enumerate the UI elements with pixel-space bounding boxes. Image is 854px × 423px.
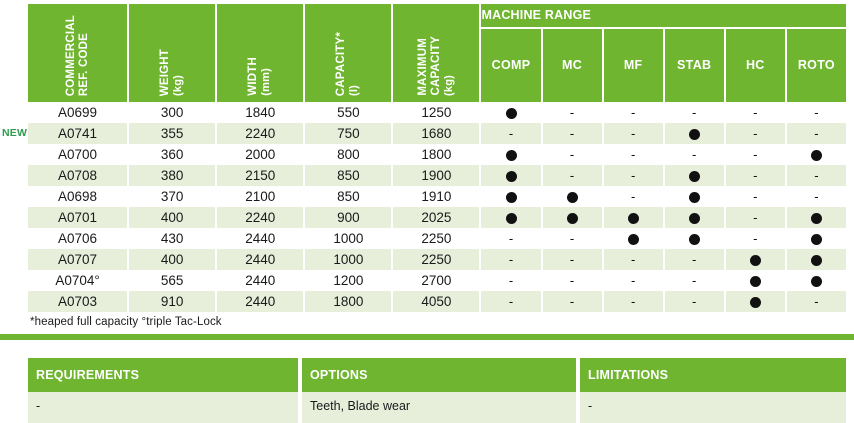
cell-weight: 355 xyxy=(128,123,216,144)
filled-dot-icon xyxy=(506,213,517,224)
cell-capacity: 800 xyxy=(304,144,392,165)
cell-weight: 910 xyxy=(128,291,216,312)
cell-width: 2440 xyxy=(216,249,304,270)
info-value-limitations: - xyxy=(578,392,846,423)
col-header-width-label: WIDTH xyxy=(247,57,260,96)
cell-machine-hc: - xyxy=(725,186,786,207)
info-col-header-options: OPTIONS xyxy=(300,358,578,392)
cell-commercial-ref-code: A0708 xyxy=(28,165,128,186)
cell-machine-comp: - xyxy=(480,270,541,291)
filled-dot-icon xyxy=(811,255,822,266)
cell-machine-mc: - xyxy=(542,291,603,312)
cell-maximum-capacity: 1900 xyxy=(392,165,480,186)
cell-weight: 300 xyxy=(128,102,216,123)
cell-machine-roto xyxy=(786,207,846,228)
cell-weight: 400 xyxy=(128,207,216,228)
vertical-label-wrap: WEIGHT (kg) xyxy=(129,4,215,96)
col-header-maxcap-unit: (kg) xyxy=(443,75,456,96)
filled-dot-icon xyxy=(506,192,517,203)
filled-dot-icon xyxy=(567,192,578,203)
info-value-options: Teeth, Blade wear xyxy=(300,392,578,423)
filled-dot-icon xyxy=(567,213,578,224)
filled-dot-icon xyxy=(750,276,761,287)
col-header-code-line2: REF. CODE xyxy=(78,33,91,96)
cell-machine-roto xyxy=(786,228,846,249)
filled-dot-icon xyxy=(811,150,822,161)
cell-value-code: A0699 xyxy=(58,105,97,120)
info-table-body: - Teeth, Blade wear - xyxy=(28,392,846,423)
cell-weight: 380 xyxy=(128,165,216,186)
cell-machine-mf: - xyxy=(603,102,664,123)
cell-maximum-capacity: 1910 xyxy=(392,186,480,207)
cell-machine-hc xyxy=(725,291,786,312)
cell-machine-stab: - xyxy=(664,249,725,270)
info-header-row: REQUIREMENTS OPTIONS LIMITATIONS xyxy=(28,358,846,392)
cell-width: 1840 xyxy=(216,102,304,123)
col-header-code-line1: COMMERCIAL xyxy=(65,15,78,96)
table-row: A070838021508501900---- xyxy=(28,165,846,186)
col-header-weight-unit: (kg) xyxy=(172,75,185,96)
filled-dot-icon xyxy=(628,213,639,224)
table-row: A069930018405501250----- xyxy=(28,102,846,123)
filled-dot-icon xyxy=(689,192,700,203)
cell-value-code: A0703 xyxy=(58,294,97,309)
cell-commercial-ref-code: NEWA0741 xyxy=(28,123,128,144)
dash-marker: - xyxy=(570,148,574,161)
dash-marker: - xyxy=(509,274,513,287)
dash-marker: - xyxy=(814,295,818,308)
cell-value-code: A0708 xyxy=(58,168,97,183)
col-header-mf: MF xyxy=(603,28,664,102)
dash-marker: - xyxy=(753,106,757,119)
dash-marker: - xyxy=(570,169,574,182)
col-header-mc: MC xyxy=(542,28,603,102)
dash-marker: - xyxy=(631,274,635,287)
cell-commercial-ref-code: A0701 xyxy=(28,207,128,228)
cell-maximum-capacity: 4050 xyxy=(392,291,480,312)
cell-maximum-capacity: 1250 xyxy=(392,102,480,123)
col-header-maxcap-line2: CAPACITY xyxy=(430,36,443,96)
dash-marker: - xyxy=(692,148,696,161)
cell-weight: 430 xyxy=(128,228,216,249)
cell-machine-mc: - xyxy=(542,144,603,165)
cell-capacity: 550 xyxy=(304,102,392,123)
dash-marker: - xyxy=(509,232,513,245)
cell-machine-hc: - xyxy=(725,207,786,228)
cell-machine-stab: - xyxy=(664,144,725,165)
cell-machine-comp xyxy=(480,144,541,165)
cell-width: 2240 xyxy=(216,123,304,144)
dash-marker: - xyxy=(570,127,574,140)
cell-capacity: 1200 xyxy=(304,270,392,291)
table-row: A0704°565244012002700---- xyxy=(28,270,846,291)
cell-machine-roto: - xyxy=(786,165,846,186)
cell-width: 2440 xyxy=(216,228,304,249)
cell-commercial-ref-code: A0707 xyxy=(28,249,128,270)
filled-dot-icon xyxy=(689,213,700,224)
vertical-label-wrap: MAXIMUM CAPACITY (kg) xyxy=(393,4,479,96)
cell-maximum-capacity: 2025 xyxy=(392,207,480,228)
col-header-machine-range-group: MACHINE RANGE xyxy=(480,4,846,28)
dash-marker: - xyxy=(692,295,696,308)
cell-machine-mc: - xyxy=(542,102,603,123)
cell-machine-mf: - xyxy=(603,186,664,207)
cell-machine-mf: - xyxy=(603,165,664,186)
cell-machine-stab xyxy=(664,123,725,144)
cell-weight: 370 xyxy=(128,186,216,207)
col-header-width: WIDTH (mm) xyxy=(216,4,304,102)
cell-machine-roto: - xyxy=(786,102,846,123)
cell-commercial-ref-code: A0700 xyxy=(28,144,128,165)
cell-machine-mc: - xyxy=(542,123,603,144)
cell-machine-comp xyxy=(480,186,541,207)
filled-dot-icon xyxy=(689,234,700,245)
dash-marker: - xyxy=(631,190,635,203)
cell-maximum-capacity: 2250 xyxy=(392,249,480,270)
dash-marker: - xyxy=(753,211,757,224)
info-table: REQUIREMENTS OPTIONS LIMITATIONS - Teeth… xyxy=(28,358,846,423)
filled-dot-icon xyxy=(506,108,517,119)
specification-table: COMMERCIAL REF. CODE WEIGHT (kg) WIDTH xyxy=(28,4,846,312)
dash-marker: - xyxy=(753,190,757,203)
cell-width: 2100 xyxy=(216,186,304,207)
filled-dot-icon xyxy=(750,255,761,266)
dash-marker: - xyxy=(570,106,574,119)
section-divider-rule xyxy=(0,334,854,340)
table-row: A070140022409002025- xyxy=(28,207,846,228)
cell-maximum-capacity: 2700 xyxy=(392,270,480,291)
spec-sheet-page: COMMERCIAL REF. CODE WEIGHT (kg) WIDTH xyxy=(0,0,854,423)
filled-dot-icon xyxy=(628,234,639,245)
dash-marker: - xyxy=(753,127,757,140)
cell-machine-mc: - xyxy=(542,165,603,186)
vertical-label-wrap: CAPACITY* (l) xyxy=(305,4,391,96)
cell-commercial-ref-code: A0703 xyxy=(28,291,128,312)
cell-machine-mc xyxy=(542,186,603,207)
dash-marker: - xyxy=(814,106,818,119)
cell-capacity: 900 xyxy=(304,207,392,228)
table-row: A0703910244018004050----- xyxy=(28,291,846,312)
cell-value-code: A0700 xyxy=(58,147,97,162)
cell-machine-comp xyxy=(480,102,541,123)
table-row: A070036020008001800---- xyxy=(28,144,846,165)
dash-marker: - xyxy=(692,106,696,119)
dash-marker: - xyxy=(631,127,635,140)
col-header-capacity-label: CAPACITY* xyxy=(335,32,348,96)
table-row: A069837021008501910--- xyxy=(28,186,846,207)
cell-machine-mf xyxy=(603,228,664,249)
col-header-weight: WEIGHT (kg) xyxy=(128,4,216,102)
cell-width: 2000 xyxy=(216,144,304,165)
cell-machine-roto: - xyxy=(786,291,846,312)
cell-machine-mf: - xyxy=(603,144,664,165)
info-value-row: - Teeth, Blade wear - xyxy=(28,392,846,423)
filled-dot-icon xyxy=(689,129,700,140)
cell-commercial-ref-code: A0699 xyxy=(28,102,128,123)
specification-table-head: COMMERCIAL REF. CODE WEIGHT (kg) WIDTH xyxy=(28,4,846,102)
cell-machine-hc: - xyxy=(725,144,786,165)
filled-dot-icon xyxy=(811,213,822,224)
cell-machine-mf xyxy=(603,207,664,228)
table-row: NEWA074135522407501680----- xyxy=(28,123,846,144)
cell-capacity: 1000 xyxy=(304,249,392,270)
cell-machine-mc xyxy=(542,207,603,228)
cell-machine-hc: - xyxy=(725,228,786,249)
cell-machine-stab: - xyxy=(664,270,725,291)
cell-value-code: A0698 xyxy=(58,189,97,204)
info-col-header-limitations: LIMITATIONS xyxy=(578,358,846,392)
col-header-comp: COMP xyxy=(480,28,541,102)
cell-commercial-ref-code: A0704° xyxy=(28,270,128,291)
cell-machine-stab xyxy=(664,207,725,228)
col-header-stab: STAB xyxy=(664,28,725,102)
dash-marker: - xyxy=(631,253,635,266)
dash-marker: - xyxy=(570,295,574,308)
cell-machine-comp xyxy=(480,207,541,228)
filled-dot-icon xyxy=(506,150,517,161)
cell-machine-mc: - xyxy=(542,249,603,270)
col-header-weight-label: WEIGHT xyxy=(159,49,172,96)
cell-machine-stab: - xyxy=(664,102,725,123)
filled-dot-icon xyxy=(750,297,761,308)
cell-machine-comp: - xyxy=(480,249,541,270)
cell-machine-mf: - xyxy=(603,123,664,144)
cell-machine-roto xyxy=(786,144,846,165)
dash-marker: - xyxy=(814,169,818,182)
cell-capacity: 850 xyxy=(304,165,392,186)
cell-width: 2440 xyxy=(216,291,304,312)
info-col-header-requirements: REQUIREMENTS xyxy=(28,358,300,392)
dash-marker: - xyxy=(509,295,513,308)
cell-capacity: 750 xyxy=(304,123,392,144)
specification-table-container: COMMERCIAL REF. CODE WEIGHT (kg) WIDTH xyxy=(28,4,846,312)
cell-machine-roto: - xyxy=(786,123,846,144)
cell-machine-hc: - xyxy=(725,123,786,144)
col-header-hc: HC xyxy=(725,28,786,102)
dash-marker: - xyxy=(631,148,635,161)
cell-commercial-ref-code: A0706 xyxy=(28,228,128,249)
col-header-commercial-ref-code: COMMERCIAL REF. CODE xyxy=(28,4,128,102)
col-header-maxcap-line1: MAXIMUM xyxy=(417,38,430,96)
cell-machine-roto xyxy=(786,249,846,270)
cell-machine-hc: - xyxy=(725,102,786,123)
info-table-container: REQUIREMENTS OPTIONS LIMITATIONS - Teeth… xyxy=(28,358,846,423)
cell-machine-comp: - xyxy=(480,123,541,144)
dash-marker: - xyxy=(570,253,574,266)
cell-width: 2150 xyxy=(216,165,304,186)
cell-value-code: A0704° xyxy=(55,273,99,288)
cell-weight: 360 xyxy=(128,144,216,165)
dash-marker: - xyxy=(570,274,574,287)
dash-marker: - xyxy=(692,253,696,266)
cell-machine-roto xyxy=(786,270,846,291)
cell-machine-mf: - xyxy=(603,291,664,312)
table-row: A0706430244010002250--- xyxy=(28,228,846,249)
cell-machine-hc: - xyxy=(725,165,786,186)
dash-marker: - xyxy=(753,169,757,182)
specification-table-body: A069930018405501250-----NEWA074135522407… xyxy=(28,102,846,312)
col-header-capacity-unit: (l) xyxy=(348,85,361,96)
dash-marker: - xyxy=(631,295,635,308)
cell-machine-stab: - xyxy=(664,291,725,312)
new-badge: NEW xyxy=(0,127,28,139)
vertical-label-wrap: COMMERCIAL REF. CODE xyxy=(28,4,127,96)
filled-dot-icon xyxy=(689,171,700,182)
table-footnote: *heaped full capacity °triple Tac-Lock xyxy=(30,316,222,328)
cell-machine-stab xyxy=(664,228,725,249)
cell-machine-comp: - xyxy=(480,228,541,249)
cell-machine-mc: - xyxy=(542,228,603,249)
cell-maximum-capacity: 2250 xyxy=(392,228,480,249)
info-value-requirements: - xyxy=(28,392,300,423)
cell-machine-hc xyxy=(725,249,786,270)
cell-machine-mf: - xyxy=(603,270,664,291)
cell-machine-stab xyxy=(664,165,725,186)
cell-machine-roto: - xyxy=(786,186,846,207)
col-header-roto: ROTO xyxy=(786,28,846,102)
cell-width: 2440 xyxy=(216,270,304,291)
cell-machine-hc xyxy=(725,270,786,291)
cell-machine-comp: - xyxy=(480,291,541,312)
cell-value-code: A0701 xyxy=(58,210,97,225)
filled-dot-icon xyxy=(811,234,822,245)
header-row-group: COMMERCIAL REF. CODE WEIGHT (kg) WIDTH xyxy=(28,4,846,28)
filled-dot-icon xyxy=(506,171,517,182)
col-header-maximum-capacity: MAXIMUM CAPACITY (kg) xyxy=(392,4,480,102)
dash-marker: - xyxy=(509,127,513,140)
info-table-head: REQUIREMENTS OPTIONS LIMITATIONS xyxy=(28,358,846,392)
dash-marker: - xyxy=(631,169,635,182)
dash-marker: - xyxy=(509,253,513,266)
cell-capacity: 1800 xyxy=(304,291,392,312)
dash-marker: - xyxy=(570,232,574,245)
dash-marker: - xyxy=(753,148,757,161)
cell-weight: 400 xyxy=(128,249,216,270)
dash-marker: - xyxy=(814,190,818,203)
vertical-label-wrap: WIDTH (mm) xyxy=(217,4,303,96)
dash-marker: - xyxy=(814,127,818,140)
cell-machine-mf: - xyxy=(603,249,664,270)
cell-capacity: 850 xyxy=(304,186,392,207)
cell-width: 2240 xyxy=(216,207,304,228)
cell-machine-stab xyxy=(664,186,725,207)
cell-capacity: 1000 xyxy=(304,228,392,249)
cell-value-code: A0706 xyxy=(58,231,97,246)
cell-value-code: A0741 xyxy=(58,126,97,141)
cell-machine-comp xyxy=(480,165,541,186)
cell-maximum-capacity: 1800 xyxy=(392,144,480,165)
filled-dot-icon xyxy=(811,276,822,287)
dash-marker: - xyxy=(753,232,757,245)
cell-machine-mc: - xyxy=(542,270,603,291)
cell-weight: 565 xyxy=(128,270,216,291)
col-header-width-unit: (mm) xyxy=(260,68,273,96)
dash-marker: - xyxy=(692,274,696,287)
cell-value-code: A0707 xyxy=(58,252,97,267)
table-row: A0707400244010002250---- xyxy=(28,249,846,270)
dash-marker: - xyxy=(631,106,635,119)
cell-maximum-capacity: 1680 xyxy=(392,123,480,144)
col-header-capacity: CAPACITY* (l) xyxy=(304,4,392,102)
cell-commercial-ref-code: A0698 xyxy=(28,186,128,207)
